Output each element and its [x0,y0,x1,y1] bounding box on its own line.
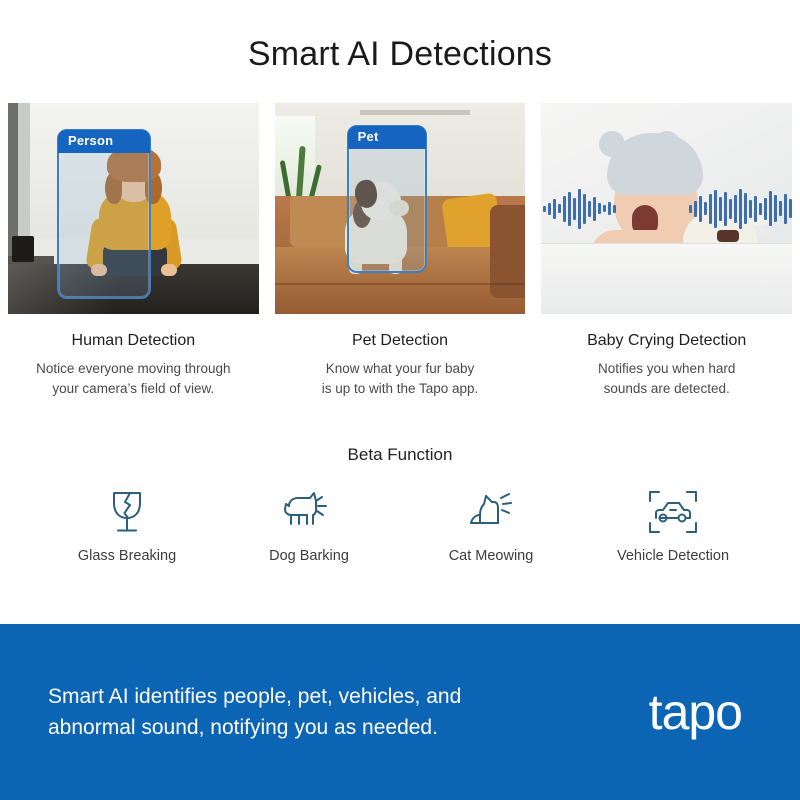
feature-row: Person Human Detection Notice everyone m… [0,103,800,398]
footer-tagline: Smart AI identifies people, pet, vehicle… [48,681,461,744]
baby-crying-desc: Notifies you when hard sounds are detect… [547,359,786,398]
couch-seam [275,283,526,285]
soundwave-bar [734,195,737,223]
soundwave-bar [548,203,551,215]
soundwave-bar [709,194,712,224]
tapo-logo: tapo [649,687,748,737]
broken-glass-icon [47,489,207,535]
soundwave-bar [563,196,566,222]
soundwave-bar [774,195,777,222]
beta-item-dog-barking[interactable]: Dog Barking [229,489,389,564]
person-detection-box: Person [57,129,151,299]
soundwave-bar [704,202,707,215]
soundwave-bar [764,198,767,220]
soundwave-bar [789,199,792,218]
baby-crying-thumbnail [541,103,792,314]
infographic-page: Smart AI Detections [0,0,800,800]
human-desc-line1: Notice everyone moving through [36,361,230,376]
soundwave-bar [749,200,752,218]
feature-card-pet: Pet Pet Detection Know what your fur bab… [275,103,526,398]
baby-crying-title: Baby Crying Detection [547,332,786,350]
soundwave-bar [613,205,616,213]
beta-section-title: Beta Function [0,445,800,465]
pet-detection-label: Pet [348,126,426,149]
soundwave-right [689,186,792,232]
soundwave-bar [759,203,762,215]
human-detection-caption: Human Detection Notice everyone moving t… [8,332,259,398]
human-detection-desc: Notice everyone moving through your came… [14,359,253,398]
soundwave-bar [593,197,596,221]
soundwave-bar [699,196,702,222]
soundwave-left [543,186,616,232]
pet-detection-thumbnail: Pet [275,103,526,314]
blanket-fold [541,243,792,315]
human-detection-title: Human Detection [14,332,253,350]
toddler-right-hand [161,264,177,276]
soundwave-bar [724,192,727,226]
soundwave-bar [769,191,772,226]
soundwave-bar [568,192,571,226]
beta-label-dog-barking: Dog Barking [229,548,389,564]
soundwave-bar [573,198,576,220]
soundwave-bar [714,190,717,228]
soundwave-bar [583,194,586,224]
baby-desc-line2: sounds are detected. [604,381,730,396]
beta-function-row: Glass Breaking Dog Barking [0,489,800,564]
soundwave-bar [578,189,581,229]
beta-label-cat-meowing: Cat Meowing [411,548,571,564]
soundwave-bar [588,201,591,217]
soundwave-bar [784,194,787,224]
human-detection-thumbnail: Person [8,103,259,314]
page-title: Smart AI Detections [0,0,800,73]
soundwave-bar [598,203,601,214]
soundwave-bar [779,201,782,216]
soundwave-bar [603,205,606,212]
car-focus-icon [593,489,753,535]
soundwave-bar [694,201,697,217]
footer-line1: Smart AI identifies people, pet, vehicle… [48,685,461,708]
pet-desc-line2: is up to with the Tapo app. [322,381,479,396]
footer-line2: abnormal sound, notifying you as needed. [48,716,438,739]
wall-shelf [360,110,470,115]
feature-card-human: Person Human Detection Notice everyone m… [8,103,259,398]
human-desc-line2: your camera’s field of view. [52,381,214,396]
pet-desc-line1: Know what your fur baby [326,361,475,376]
barking-dog-icon [229,489,389,535]
beta-item-cat-meowing[interactable]: Cat Meowing [411,489,571,564]
pet-detection-desc: Know what your fur baby is up to with th… [281,359,520,398]
soundwave-bar [719,197,722,221]
meowing-cat-icon [411,489,571,535]
beta-item-vehicle-detection[interactable]: Vehicle Detection [593,489,753,564]
pet-detection-box: Pet [347,125,427,273]
pet-detection-caption: Pet Detection Know what your fur baby is… [275,332,526,398]
beta-label-glass-breaking: Glass Breaking [47,548,207,564]
beta-item-glass-breaking[interactable]: Glass Breaking [47,489,207,564]
soundwave-bar [744,193,747,224]
soundwave-bar [553,199,556,219]
beta-label-vehicle-detection: Vehicle Detection [593,548,753,564]
soundwave-bar [558,204,561,213]
baby-desc-line1: Notifies you when hard [598,361,735,376]
nursery-scene [541,103,792,314]
floor-object [12,236,34,262]
soundwave-bar [739,189,742,229]
soundwave-bar [729,199,732,219]
baby-crying-caption: Baby Crying Detection Notifies you when … [541,332,792,398]
soundwave-bar [608,202,611,215]
soundwave-bar [754,196,757,222]
feature-card-baby: Baby Crying Detection Notifies you when … [541,103,792,398]
soundwave-bar [689,205,692,213]
pet-detection-title: Pet Detection [281,332,520,350]
soundwave-bar [543,206,546,212]
footer-banner: Smart AI identifies people, pet, vehicle… [0,624,800,800]
person-detection-label: Person [58,130,150,153]
